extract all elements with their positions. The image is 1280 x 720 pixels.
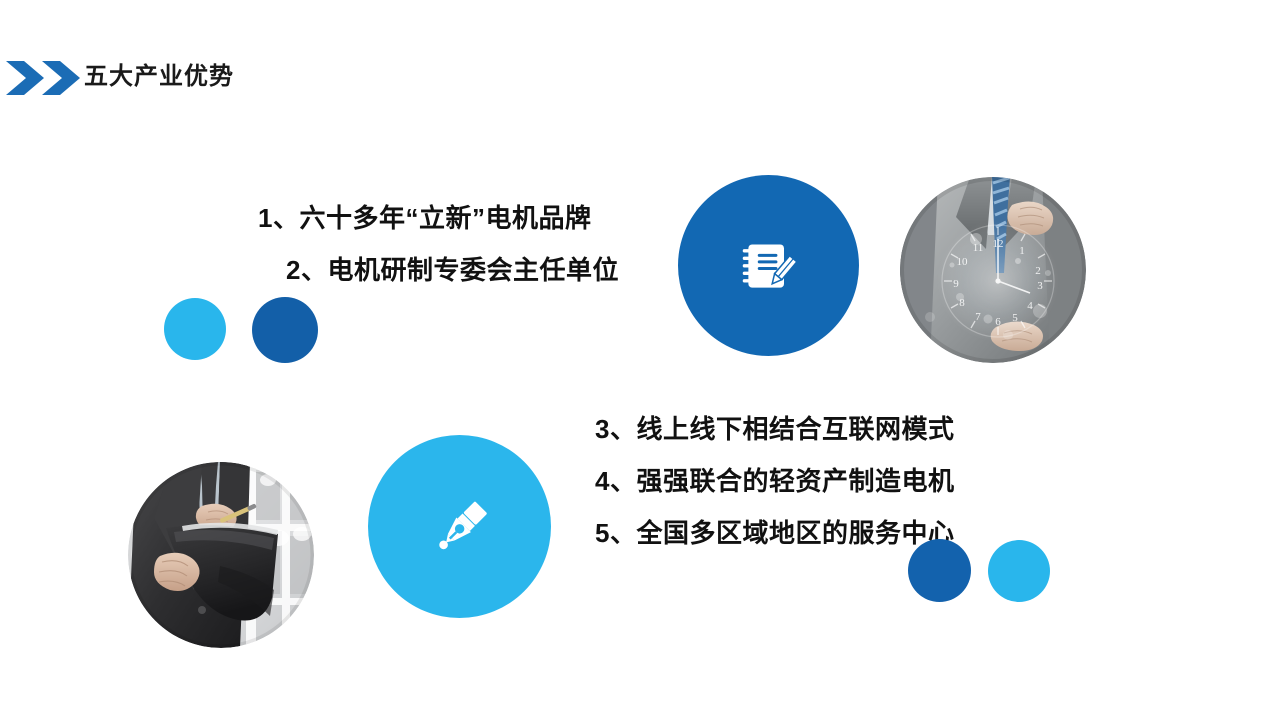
icon-circle-notebook xyxy=(678,175,859,356)
svg-text:6: 6 xyxy=(995,316,1001,328)
slide-canvas: 五大产业优势 1、六十多年“立新”电机品牌 2、电机研制专委会主任单位 3、线上… xyxy=(0,0,1280,720)
advantage-list-top: 1、六十多年“立新”电机品牌 2、电机研制专委会主任单位 xyxy=(258,192,678,296)
list-item: 3、线上线下相结合互联网模式 xyxy=(595,403,995,455)
accent-dot-dark-blue xyxy=(252,297,318,363)
notebook-pencil-icon xyxy=(739,236,799,296)
svg-text:7: 7 xyxy=(975,311,981,323)
page-title: 五大产业优势 xyxy=(84,58,234,96)
svg-text:2: 2 xyxy=(1035,265,1041,277)
list-item: 2、电机研制专委会主任单位 xyxy=(258,244,678,296)
pen-nib-icon xyxy=(427,494,493,560)
svg-text:4: 4 xyxy=(1027,300,1033,312)
svg-text:9: 9 xyxy=(953,278,959,290)
list-item: 4、强强联合的轻资产制造电机 xyxy=(595,455,995,507)
svg-text:3: 3 xyxy=(1037,280,1043,292)
accent-dot-light-blue xyxy=(164,298,226,360)
photo-businessman-clock: 12 1 2 3 4 5 6 7 8 9 10 11 xyxy=(900,177,1086,363)
svg-text:10: 10 xyxy=(957,256,969,268)
advantage-list-bottom: 3、线上线下相结合互联网模式 4、强强联合的轻资产制造电机 5、全国多区域地区的… xyxy=(595,403,995,559)
list-item: 1、六十多年“立新”电机品牌 xyxy=(258,192,678,244)
slide-header: 五大产业优势 xyxy=(0,55,520,100)
icon-circle-pen xyxy=(368,435,551,618)
accent-dot-light-blue xyxy=(988,540,1050,602)
svg-text:1: 1 xyxy=(1019,245,1025,257)
svg-text:5: 5 xyxy=(1012,312,1018,324)
double-chevron-right-icon xyxy=(6,59,82,97)
photo-businessman-clipboard xyxy=(128,462,314,648)
accent-dot-dark-blue xyxy=(908,539,971,602)
